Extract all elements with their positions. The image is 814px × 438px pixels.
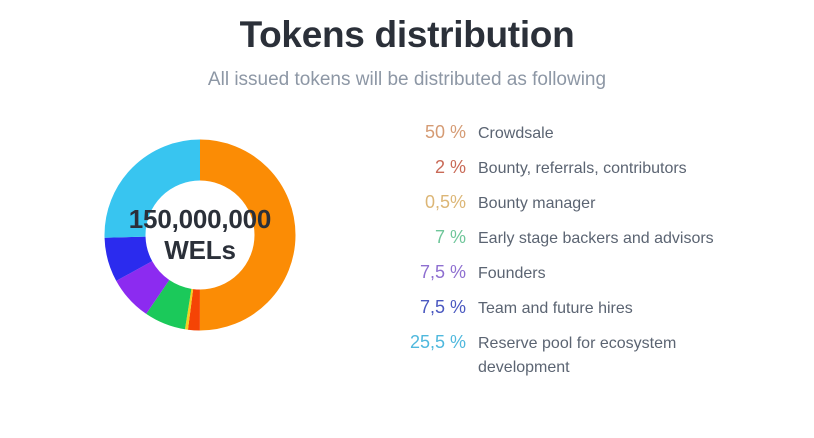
legend-item-percent: 7,5 % <box>400 294 466 320</box>
legend-item-label: Reserve pool for ecosystem development <box>478 332 738 380</box>
tokens-distribution-section: Tokens distribution All issued tokens wi… <box>0 0 814 438</box>
legend-item-percent: 0,5% <box>400 189 466 215</box>
legend-item-label: Early stage backers and advisors <box>478 227 714 251</box>
donut-svg <box>84 119 316 351</box>
legend-item: 7,5 %Team and future hires <box>400 294 814 321</box>
legend-item-label: Bounty, referrals, contributors <box>478 157 687 181</box>
page-subtitle: All issued tokens will be distributed as… <box>0 69 814 92</box>
legend-item: 0,5%Bounty manager <box>400 189 814 216</box>
page-title: Tokens distribution <box>0 14 814 57</box>
legend-item-percent: 25,5 % <box>400 329 466 355</box>
legend-item-label: Crowdsale <box>478 122 554 146</box>
legend-item-percent: 50 % <box>400 119 466 145</box>
legend-item-percent: 2 % <box>400 154 466 180</box>
legend-item: 2 %Bounty, referrals, contributors <box>400 154 814 181</box>
legend-item-percent: 7,5 % <box>400 259 466 285</box>
legend-item-label: Founders <box>478 262 546 286</box>
legend-item: 25,5 %Reserve pool for ecosystem develop… <box>400 329 814 380</box>
chart-container: 150,000,000 WELs <box>0 113 400 351</box>
distribution-body: 150,000,000 WELs 50 %Crowdsale2 %Bounty,… <box>0 113 814 380</box>
header: Tokens distribution All issued tokens wi… <box>0 0 814 91</box>
legend-item-percent: 7 % <box>400 224 466 250</box>
chart-legend: 50 %Crowdsale2 %Bounty, referrals, contr… <box>400 113 814 380</box>
legend-item: 7 %Early stage backers and advisors <box>400 224 814 251</box>
donut-chart: 150,000,000 WELs <box>84 119 316 351</box>
legend-item-label: Team and future hires <box>478 297 633 321</box>
legend-item: 7,5 %Founders <box>400 259 814 286</box>
legend-item: 50 %Crowdsale <box>400 119 814 146</box>
donut-segments <box>125 160 275 310</box>
legend-item-label: Bounty manager <box>478 192 595 216</box>
